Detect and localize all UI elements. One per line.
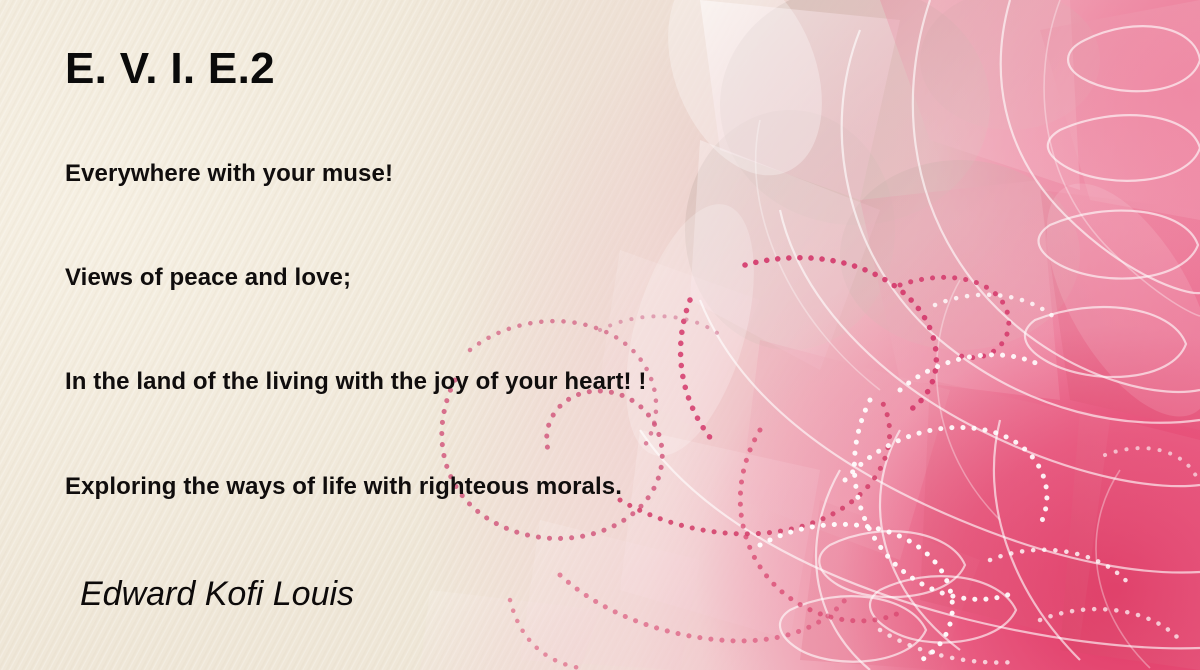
poem-card: E. V. I. E.2 Everywhere with your muse! …: [0, 0, 1200, 670]
poem-author: Edward Kofi Louis: [80, 575, 354, 614]
poem-text-block: E. V. I. E.2 Everywhere with your muse! …: [65, 0, 1065, 670]
poem-line: Everywhere with your muse!: [65, 160, 393, 188]
poem-title: E. V. I. E.2: [65, 44, 275, 94]
poem-line: In the land of the living with the joy o…: [65, 368, 647, 396]
poem-line: Views of peace and love;: [65, 264, 351, 292]
poem-line: Exploring the ways of life with righteou…: [65, 473, 622, 501]
